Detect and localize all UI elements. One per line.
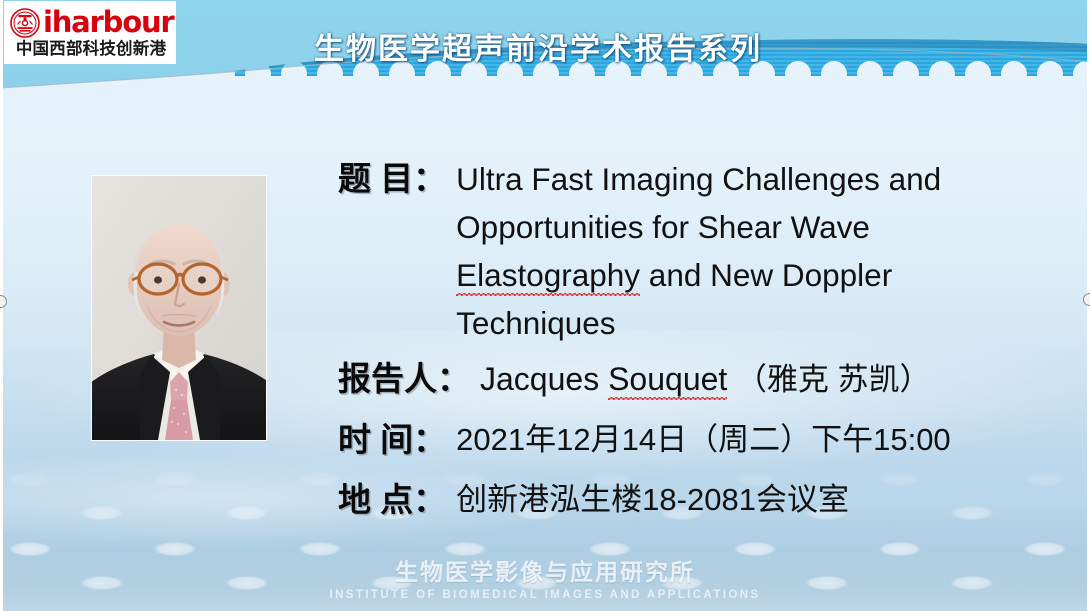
time-value: 2021年12月14日（周二）下午15:00	[446, 416, 1038, 464]
title-value: Ultra Fast Imaging Challenges and Opport…	[446, 155, 1038, 347]
speaker-portrait-image	[92, 176, 266, 440]
title-line-4: Techniques	[456, 299, 1038, 347]
title-line-2: Opportunities for Shear Wave	[456, 203, 1038, 251]
title-label: 题 目：	[338, 155, 446, 203]
title-line-1: Ultra Fast Imaging Challenges and	[456, 155, 1038, 203]
footer-institute-english: INSTITUTE OF BIOMEDICAL IMAGES AND APPLI…	[0, 587, 1090, 603]
logo-chinese-name: 中国西部科技创新港	[10, 39, 172, 59]
speaker-given-name: Jacques	[480, 361, 608, 397]
place-label: 地 点：	[338, 476, 446, 524]
time-label: 时 间：	[338, 416, 446, 464]
title-row: 题 目： Ultra Fast Imaging Challenges and O…	[338, 155, 1038, 347]
misspelled-word-elastography: Elastography	[456, 257, 640, 296]
title-line-3: Elastography and New Doppler	[456, 251, 1038, 299]
selection-handle-right[interactable]	[1083, 293, 1090, 306]
logo-wordmark: iharbour	[43, 8, 174, 37]
title-line-3-rest: and New Doppler	[640, 257, 892, 293]
slide-footer: 生物医学影像与应用研究所 INSTITUTE OF BIOMEDICAL IMA…	[0, 557, 1090, 603]
footer-institute-chinese: 生物医学影像与应用研究所	[0, 557, 1090, 587]
speaker-label: 报告人：	[338, 355, 470, 403]
xjtu-seal-icon	[10, 8, 40, 38]
presentation-slide: 生物医学超声前沿学术报告系列 iharbour 中国西部科技创新港	[0, 0, 1090, 611]
logo-top-row: iharbour	[10, 6, 172, 39]
time-row: 时 间： 2021年12月14日（周二）下午15:00	[338, 416, 1038, 464]
place-value: 创新港泓生楼18-2081会议室	[446, 476, 1038, 524]
place-row: 地 点： 创新港泓生楼18-2081会议室	[338, 476, 1038, 524]
speaker-value: Jacques Souquet （雅克 苏凯）	[470, 355, 1038, 404]
speaker-name-chinese: （雅克 苏凯）	[727, 362, 930, 397]
slide-content: 题 目： Ultra Fast Imaging Challenges and O…	[338, 155, 1038, 524]
speaker-row: 报告人： Jacques Souquet （雅克 苏凯）	[338, 355, 1038, 404]
speaker-portrait-frame	[92, 176, 266, 440]
misspelled-word-souquet: Souquet	[608, 361, 727, 400]
institution-logo[interactable]: iharbour 中国西部科技创新港	[4, 1, 176, 64]
